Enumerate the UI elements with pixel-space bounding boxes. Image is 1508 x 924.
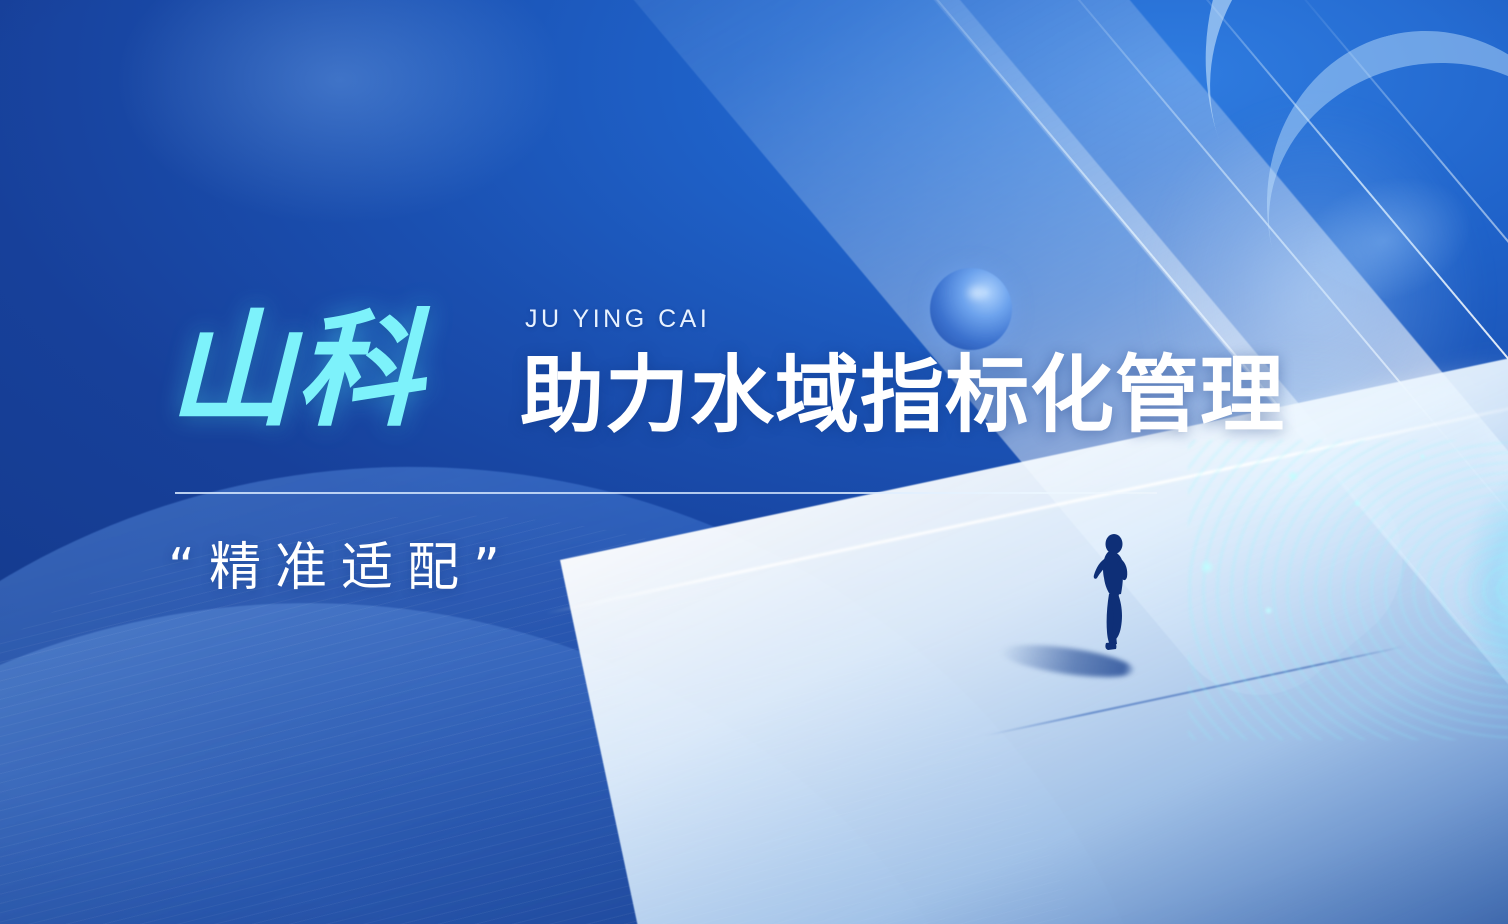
divider-line <box>175 492 1157 494</box>
headline-text: 助力水域指标化管理 <box>520 352 1285 439</box>
tagline-text: “精准适配” <box>168 540 514 597</box>
brand-pinyin-text: JU YING CAI <box>525 305 710 334</box>
brand-logo-text: 山科 <box>168 308 424 434</box>
banner-content: 山科 JU YING CAI 助力水域指标化管理 “精准适配” <box>0 0 1508 924</box>
promotional-banner: 山科 JU YING CAI 助力水域指标化管理 “精准适配” <box>0 0 1508 924</box>
